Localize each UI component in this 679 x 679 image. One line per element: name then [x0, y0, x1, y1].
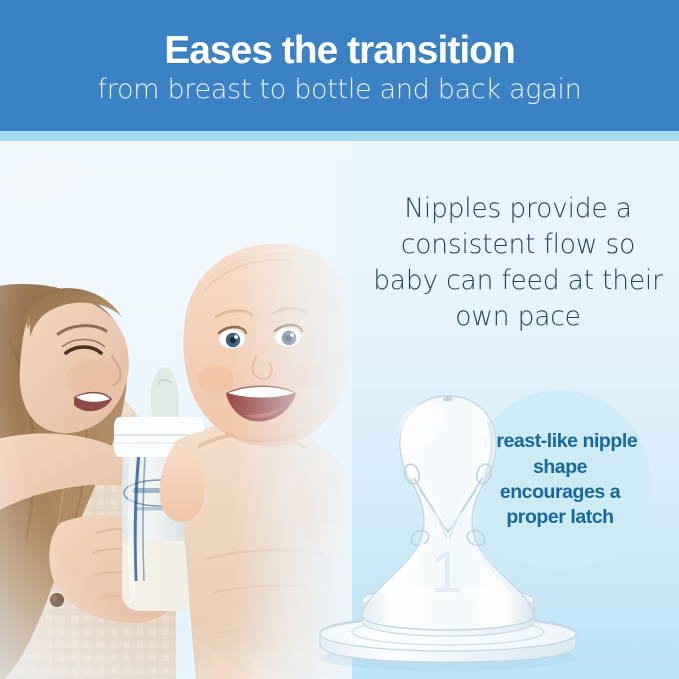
header-title: Eases the transition: [164, 31, 515, 71]
body-copy: Nipples provide a consistent flow so bab…: [368, 191, 668, 335]
header-accent-rule: [0, 131, 679, 141]
header-subtitle: from breast to bottle and back again: [98, 75, 582, 105]
svg-text:1: 1: [430, 541, 462, 606]
product-nipple-image: 1 1: [296, 386, 596, 679]
header-banner: Eases the transition from breast to bott…: [0, 0, 679, 131]
content-stage: Nipples provide a consistent flow so bab…: [0, 141, 679, 679]
promo-image: Eases the transition from breast to bott…: [0, 0, 679, 679]
